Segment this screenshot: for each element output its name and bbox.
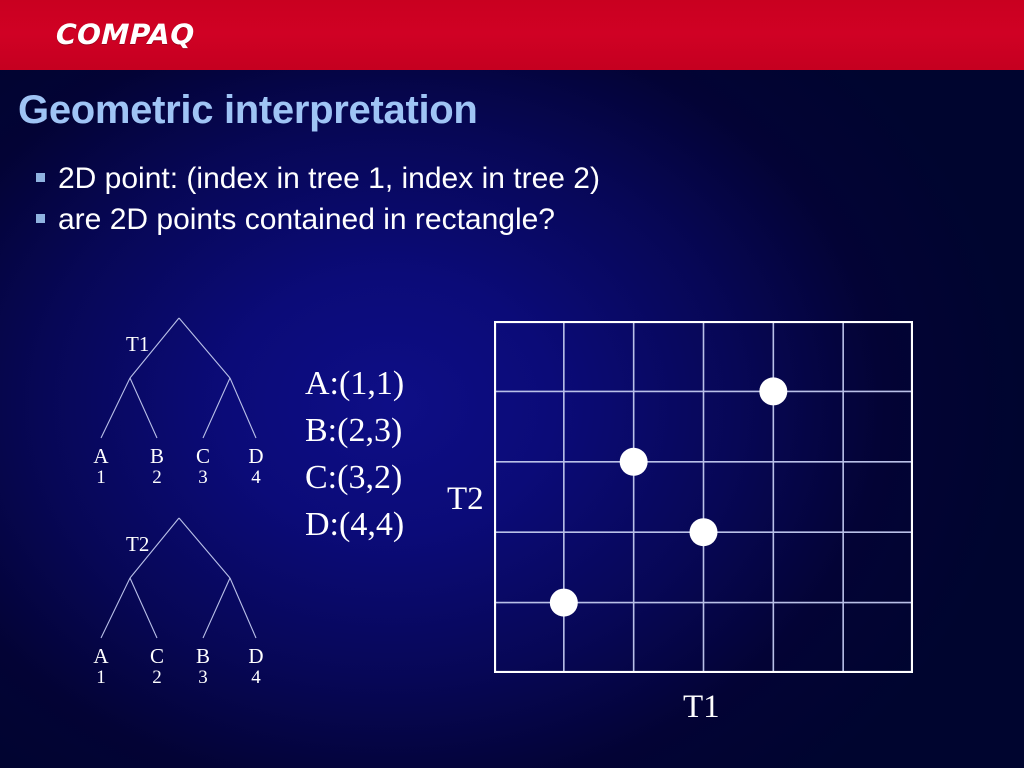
leaf-name: C bbox=[144, 645, 170, 667]
tree-2-label: T2 bbox=[126, 533, 149, 555]
list-item: are 2D points contained in rectangle? bbox=[36, 201, 896, 239]
compaq-logo: COMPAQ bbox=[55, 20, 195, 50]
tree-1-leaf-3: D 4 bbox=[243, 445, 269, 489]
leaf-index: 3 bbox=[190, 667, 216, 689]
leaf-name: C bbox=[190, 445, 216, 467]
coordinate-item-a: A:(1,1) bbox=[305, 360, 404, 407]
leaf-name: A bbox=[88, 645, 114, 667]
leaf-index: 2 bbox=[144, 667, 170, 689]
y-axis-label: T2 bbox=[447, 482, 484, 516]
leaf-index: 4 bbox=[243, 467, 269, 489]
tree-1-leaf-0: A 1 bbox=[88, 445, 114, 489]
scatter-plot bbox=[494, 321, 913, 673]
leaf-index: 4 bbox=[243, 667, 269, 689]
page-title: Geometric interpretation bbox=[18, 88, 478, 133]
leaf-index: 2 bbox=[144, 467, 170, 489]
coordinate-item-d: D:(4,4) bbox=[305, 501, 404, 548]
tree-2-leaf-2: B 3 bbox=[190, 645, 216, 689]
coordinate-item-c: C:(3,2) bbox=[305, 454, 404, 501]
bullet-square-icon bbox=[36, 173, 45, 182]
bullet-text: are 2D points contained in rectangle? bbox=[58, 201, 555, 239]
leaf-name: D bbox=[243, 645, 269, 667]
tree-1-label: T1 bbox=[126, 333, 149, 355]
data-point-a bbox=[550, 589, 578, 617]
leaf-name: B bbox=[190, 645, 216, 667]
leaf-name: B bbox=[144, 445, 170, 467]
bullet-square-icon bbox=[36, 214, 45, 223]
x-axis-label: T1 bbox=[683, 690, 720, 724]
tree-1-leaf-2: C 3 bbox=[190, 445, 216, 489]
tree-diagram-1: T1 A 1 B 2 C 3 D 4 bbox=[60, 310, 290, 510]
header-bar: COMPAQ bbox=[0, 0, 1024, 70]
tree-2-leaf-0: A 1 bbox=[88, 645, 114, 689]
leaf-index: 1 bbox=[88, 467, 114, 489]
coordinate-list: A:(1,1) B:(2,3) C:(3,2) D:(4,4) bbox=[305, 360, 404, 548]
data-point-b bbox=[620, 448, 648, 476]
list-item: 2D point: (index in tree 1, index in tre… bbox=[36, 160, 896, 198]
bullet-text: 2D point: (index in tree 1, index in tre… bbox=[58, 160, 600, 198]
coordinate-item-b: B:(2,3) bbox=[305, 407, 404, 454]
slide: COMPAQ Geometric interpretation 2D point… bbox=[0, 0, 1024, 768]
leaf-index: 1 bbox=[88, 667, 114, 689]
scatter-plot-canvas bbox=[494, 321, 913, 673]
leaf-name: A bbox=[88, 445, 114, 467]
tree-diagram-2: T2 A 1 C 2 B 3 D 4 bbox=[60, 510, 290, 710]
tree-2-leaf-3: D 4 bbox=[243, 645, 269, 689]
data-point-d bbox=[759, 377, 787, 405]
leaf-index: 3 bbox=[190, 467, 216, 489]
bullet-list: 2D point: (index in tree 1, index in tre… bbox=[36, 160, 896, 242]
tree-1-leaf-1: B 2 bbox=[144, 445, 170, 489]
leaf-name: D bbox=[243, 445, 269, 467]
data-point-c bbox=[690, 518, 718, 546]
tree-2-leaf-1: C 2 bbox=[144, 645, 170, 689]
